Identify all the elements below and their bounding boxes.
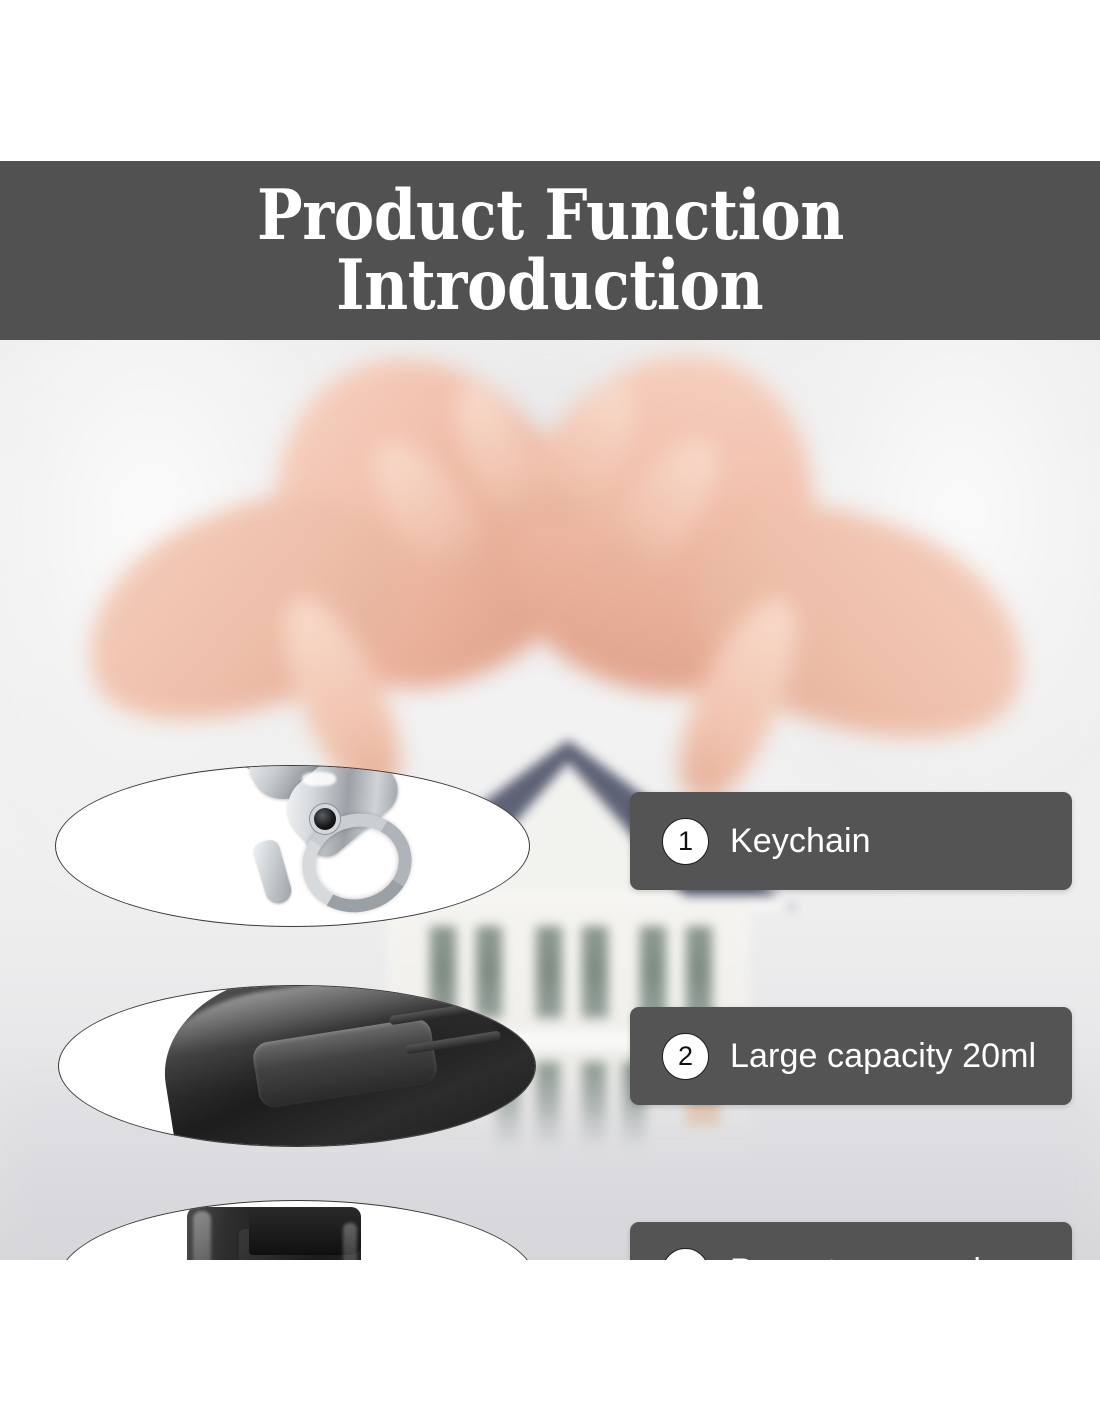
house-window — [686, 926, 712, 1018]
feature-label-2: Large capacity 20ml — [730, 1037, 1036, 1076]
nozzle-illustration — [59, 1201, 536, 1260]
callout-oval-nozzle — [58, 1200, 536, 1260]
clasp-lever — [252, 838, 295, 907]
feature-label-3: Press type nozzle — [730, 1252, 1000, 1261]
product-photo-stage: 1 Keychain 2 Large capacity 20ml 3 Press… — [0, 340, 1100, 1260]
feature-item-2[interactable]: 2 Large capacity 20ml — [630, 1007, 1072, 1105]
clasp-rivet — [314, 808, 336, 830]
callout-oval-capacity — [58, 985, 536, 1147]
house-window — [536, 926, 562, 1018]
feature-number-badge-3: 3 — [662, 1248, 709, 1261]
page-title-line-1: Product Function — [257, 182, 844, 250]
bottle-body-illustration — [59, 986, 536, 1147]
feature-item-3[interactable]: 3 Press type nozzle — [630, 1222, 1072, 1260]
clasp-highlight — [302, 772, 336, 786]
feature-number-badge-1: 1 — [662, 818, 709, 865]
callout-oval-keychain — [55, 765, 530, 927]
title-banner: Product Function Introduction — [0, 161, 1100, 340]
house-window — [640, 926, 666, 1018]
house-window — [582, 926, 608, 1018]
feature-number-badge-2: 2 — [662, 1033, 709, 1080]
keychain-clasp-illustration — [206, 765, 436, 927]
nozzle-highlight-left — [193, 1211, 211, 1260]
page-title-line-2: Introduction — [336, 252, 763, 320]
nozzle-highlight-right — [343, 1223, 357, 1260]
infographic-page: Product Function Introduction — [0, 0, 1100, 1422]
feature-label-1: Keychain — [730, 822, 871, 861]
feature-item-1[interactable]: 1 Keychain — [630, 792, 1072, 890]
